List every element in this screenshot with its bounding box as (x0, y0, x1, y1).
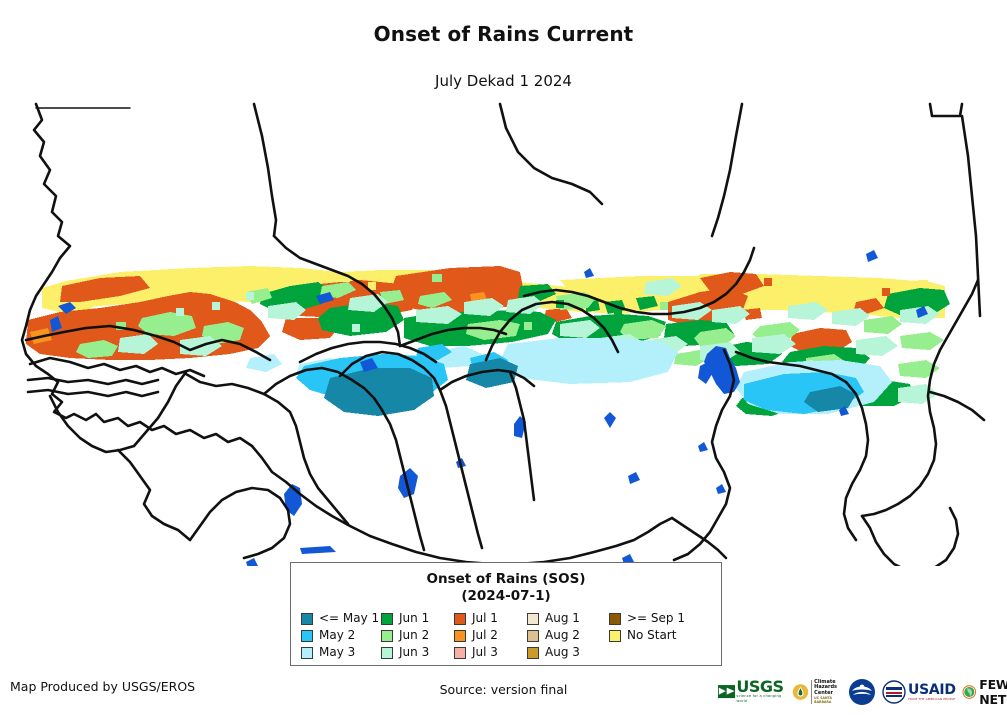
chc-line-4: UC SANTA BARBARA (814, 696, 842, 704)
legend-item-aug-3[interactable]: Aug 3 (527, 645, 609, 660)
water-drop-icon (792, 681, 809, 703)
legend-item-no-start[interactable]: No Start (609, 628, 709, 643)
legend-item-jul-1[interactable]: Jul 1 (454, 611, 527, 626)
usaid-seal-icon (882, 680, 906, 704)
legend-item-aug-2[interactable]: Aug 2 (527, 628, 609, 643)
legend-swatch-jun-2 (381, 630, 393, 642)
climate-hazards-center-logo[interactable]: Climate Hazards Center UC SANTA BARBARA (792, 675, 842, 709)
noaa-seal-icon (848, 678, 876, 706)
page-title: Onset of Rains Current (0, 22, 1007, 46)
legend-swatch-jun-1 (381, 613, 393, 625)
legend-swatch-sep-1 (609, 613, 621, 625)
usaid-wordmark: USAID (908, 684, 956, 697)
logo-strip: USGS science for a changing world Climat… (718, 673, 1003, 711)
map-legend: Onset of Rains (SOS) (2024-07-1) <= May … (290, 562, 722, 666)
legend-swatch-may-2 (301, 630, 313, 642)
legend-item-may-2[interactable]: May 2 (301, 628, 381, 643)
legend-item-sep-1[interactable]: >= Sep 1 (609, 611, 709, 626)
legend-label-aug-1: Aug 1 (545, 612, 580, 625)
legend-label-may-1: <= May 1 (319, 612, 379, 625)
legend-columns: <= May 1 May 2 May 3 Jun 1 Ju (291, 605, 721, 660)
legend-item-jun-3[interactable]: Jun 3 (381, 645, 454, 660)
legend-label-aug-3: Aug 3 (545, 646, 580, 659)
legend-label-no-start: No Start (627, 629, 676, 642)
legend-column-jun: Jun 1 Jun 2 Jun 3 (381, 611, 454, 660)
legend-item-jun-2[interactable]: Jun 2 (381, 628, 454, 643)
legend-label-jun-3: Jun 3 (399, 646, 429, 659)
legend-swatch-no-start (609, 630, 621, 642)
legend-title: Onset of Rains (SOS) (291, 571, 721, 588)
legend-swatch-aug-2 (527, 630, 539, 642)
legend-item-jul-3[interactable]: Jul 3 (454, 645, 527, 660)
legend-swatch-jul-2 (454, 630, 466, 642)
usgs-wordmark: USGS (736, 680, 786, 694)
usaid-logo[interactable]: USAID FROM THE AMERICAN PEOPLE (882, 675, 956, 709)
legend-label-may-2: May 2 (319, 629, 355, 642)
usgs-tagline: science for a changing world (736, 694, 786, 704)
usaid-tagline: FROM THE AMERICAN PEOPLE (908, 697, 956, 701)
legend-label-jul-1: Jul 1 (472, 612, 498, 625)
legend-subtitle: (2024-07-1) (291, 588, 721, 605)
legend-label-jul-3: Jul 3 (472, 646, 498, 659)
map-canvas[interactable] (0, 96, 1007, 566)
fews-net-logo[interactable]: FEWS NET (962, 675, 1007, 709)
legend-column-aug: Aug 1 Aug 2 Aug 3 (527, 611, 609, 660)
legend-column-sep: >= Sep 1 No Start (609, 611, 709, 660)
legend-label-sep-1: >= Sep 1 (627, 612, 685, 625)
legend-label-aug-2: Aug 2 (545, 629, 580, 642)
sos-raster (26, 266, 950, 416)
legend-swatch-aug-3 (527, 647, 539, 659)
legend-item-jun-1[interactable]: Jun 1 (381, 611, 454, 626)
legend-column-may: <= May 1 May 2 May 3 (301, 611, 381, 660)
fews-wordmark: FEWS NET (979, 677, 1007, 707)
noaa-logo[interactable] (848, 675, 876, 709)
legend-swatch-may-3 (301, 647, 313, 659)
legend-item-jul-2[interactable]: Jul 2 (454, 628, 527, 643)
legend-swatch-jul-1 (454, 613, 466, 625)
legend-swatch-may-1 (301, 613, 313, 625)
legend-swatch-jul-3 (454, 647, 466, 659)
legend-label-jul-2: Jul 2 (472, 629, 498, 642)
usgs-mark-icon (718, 682, 735, 702)
map-svg (0, 96, 1007, 566)
legend-swatch-aug-1 (527, 613, 539, 625)
legend-label-may-3: May 3 (319, 646, 355, 659)
legend-column-jul: Jul 1 Jul 2 Jul 3 (454, 611, 527, 660)
legend-label-jun-1: Jun 1 (399, 612, 429, 625)
page-subtitle: July Dekad 1 2024 (0, 72, 1007, 90)
legend-swatch-jun-3 (381, 647, 393, 659)
map-page: Onset of Rains Current July Dekad 1 2024 (0, 0, 1007, 715)
legend-item-may-3[interactable]: May 3 (301, 645, 381, 660)
globe-icon (962, 681, 977, 703)
legend-item-may-1[interactable]: <= May 1 (301, 611, 381, 626)
legend-label-jun-2: Jun 2 (399, 629, 429, 642)
usgs-logo[interactable]: USGS science for a changing world (718, 675, 786, 709)
legend-item-aug-1[interactable]: Aug 1 (527, 611, 609, 626)
